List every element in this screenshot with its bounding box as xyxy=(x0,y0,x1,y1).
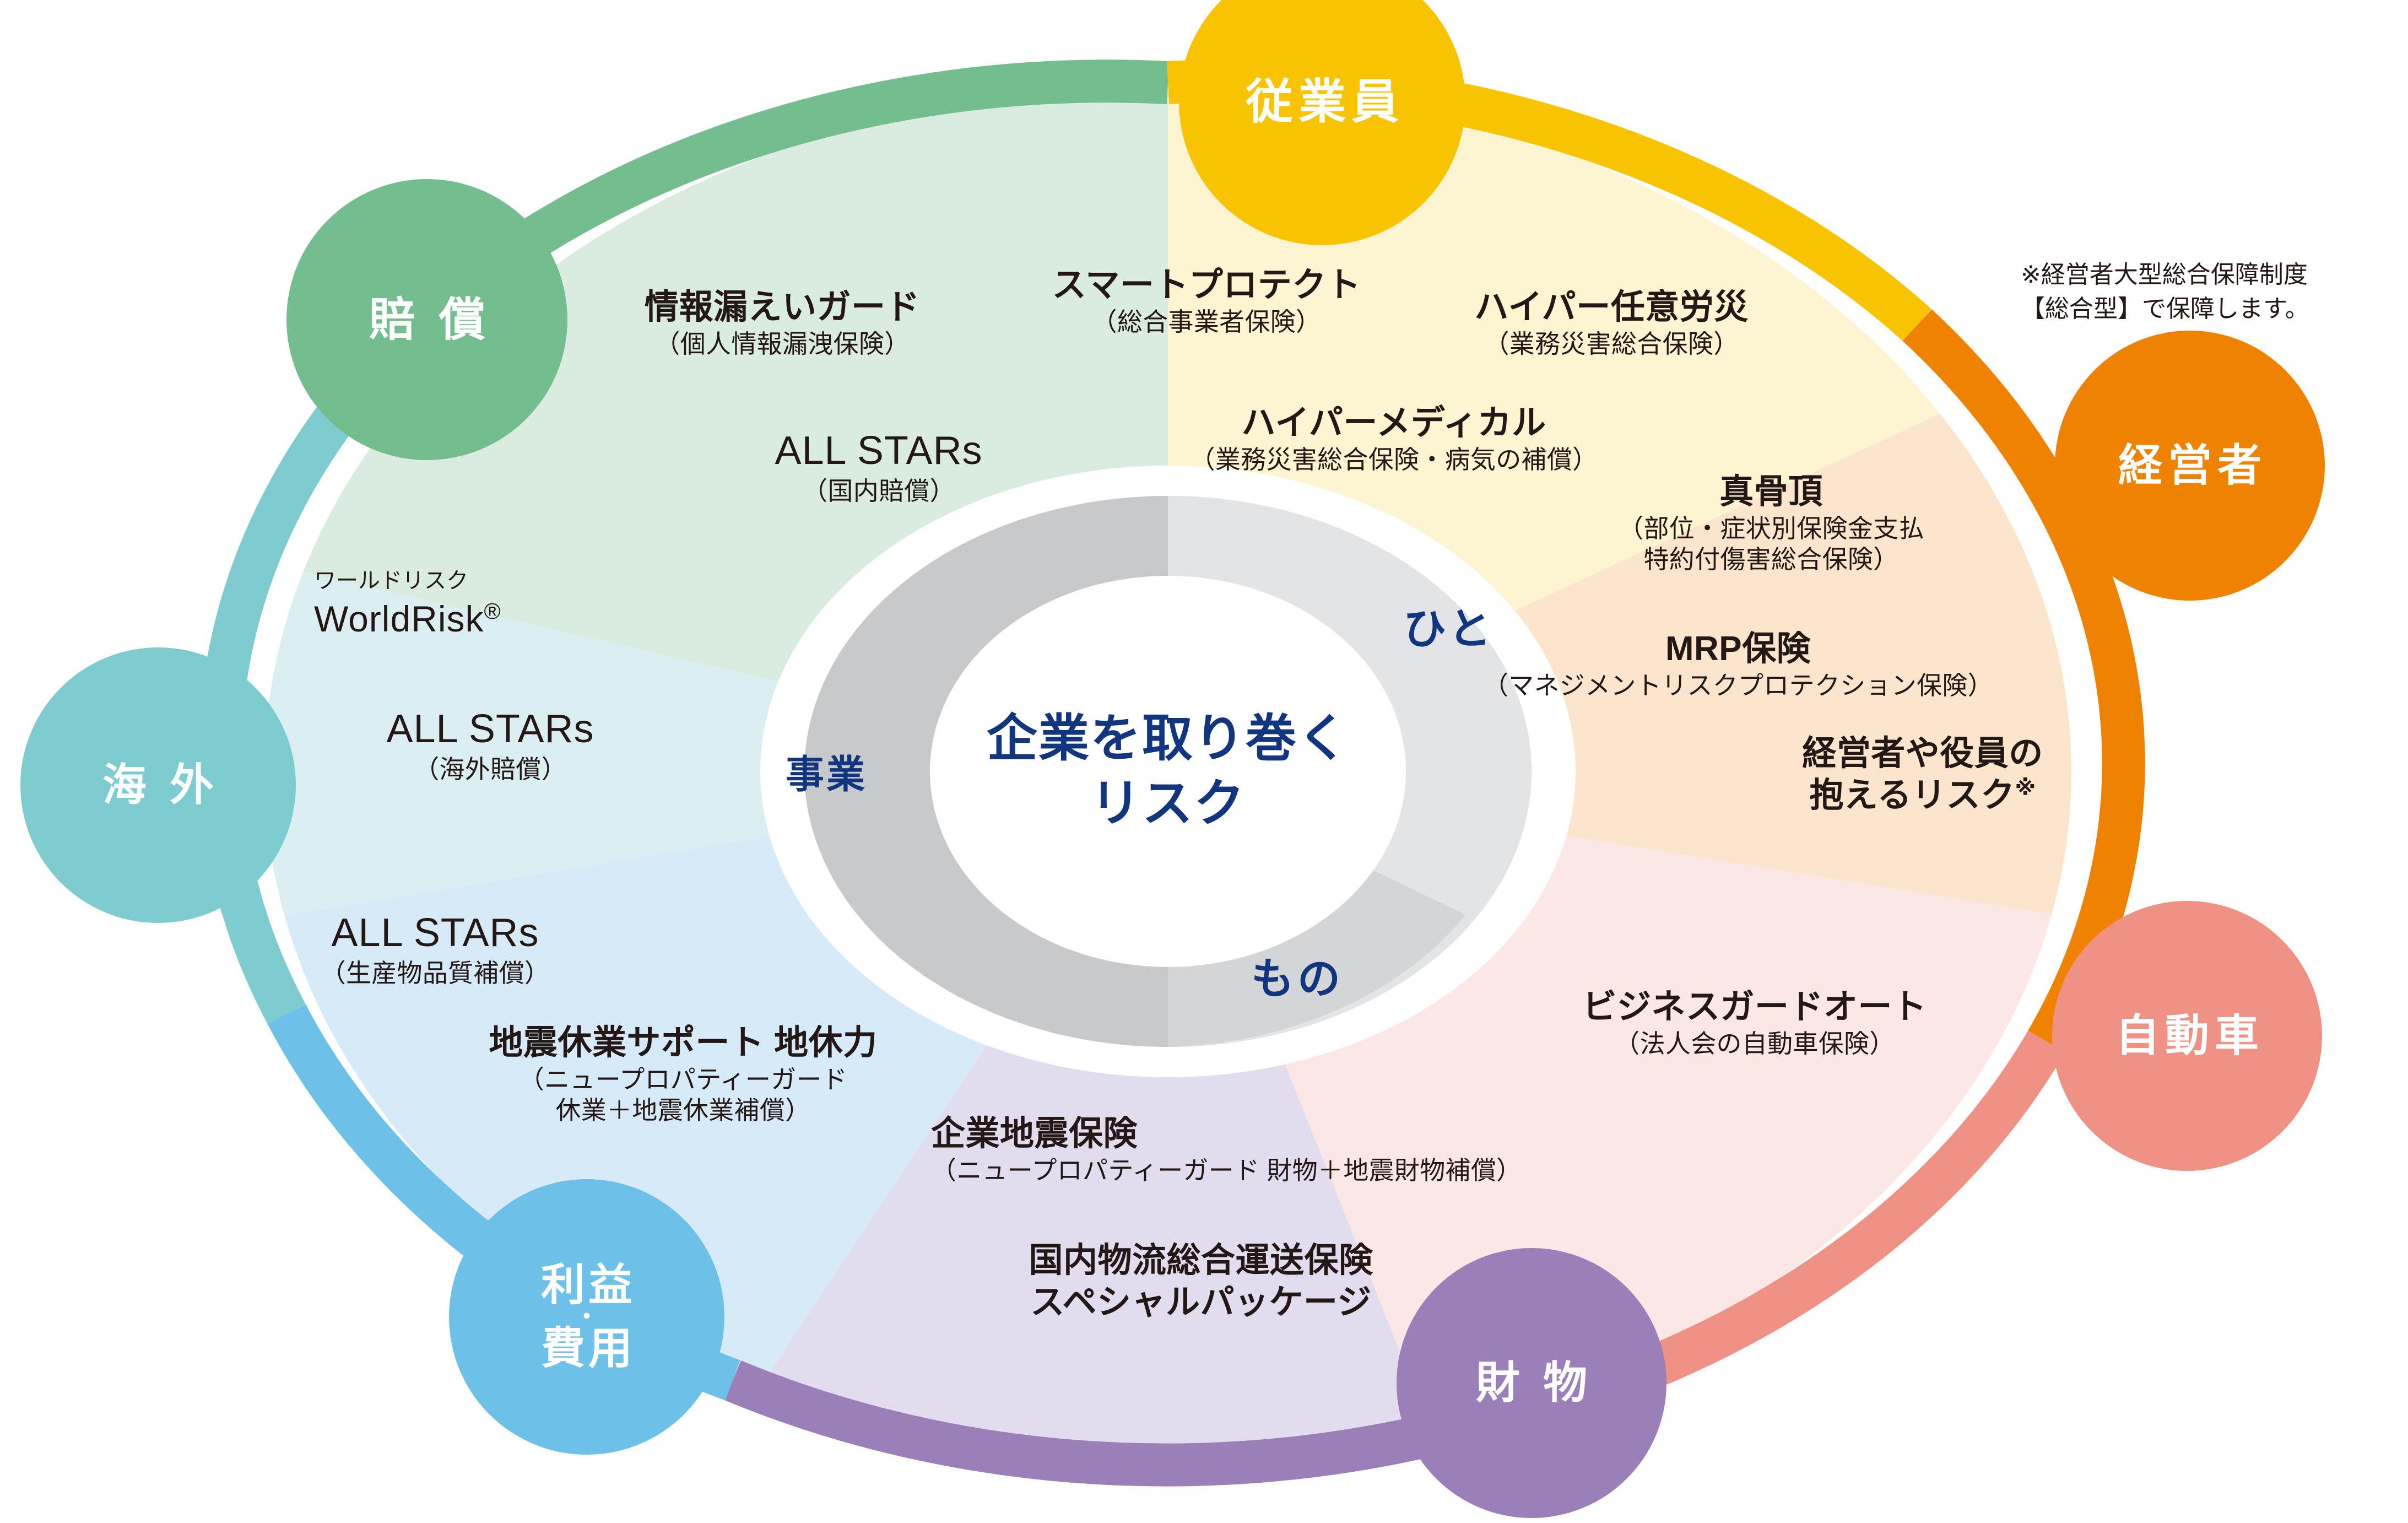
footnote-line1: ※経営者大型総合保障制度 xyxy=(2021,258,2309,292)
item-name: 経営者や役員の xyxy=(1802,733,2043,775)
footnote-line2: 【総合型】で保障します。 xyxy=(2021,292,2309,326)
item-name: 真骨頂 xyxy=(1618,471,1924,513)
item-shinkocho: 真骨頂 （部位・症状別保険金支払 特約付傷害総合保険） xyxy=(1618,471,1924,575)
item-jishin-kyugyo-support: 地震休業サポート 地休力 （ニュープロパティーガード 休業＋地震休業補償） xyxy=(489,1022,877,1126)
item-name: ALL STARs xyxy=(321,909,550,958)
item-name: MRP保険 xyxy=(1483,628,1993,670)
item-mrp-hoken: MRP保険 （マネジメントリスクプロテクション保険） xyxy=(1483,628,1993,701)
item-business-guard-auto: ビジネスガードオート （法人会の自動車保険） xyxy=(1582,986,1927,1059)
ring-label-hito: ひと xyxy=(1403,595,1495,656)
page-title: 企業を取り巻く リスク xyxy=(987,706,1349,836)
footnote: ※経営者大型総合保障制度 【総合型】で保障します。 xyxy=(2021,258,2309,327)
item-kana: ワールドリスク xyxy=(314,568,501,595)
item-all-stars-overseas: ALL STARs （海外賠償） xyxy=(386,705,594,785)
badge-label-property: 財 物 xyxy=(1470,1358,1593,1408)
item-name: 地震休業サポート 地休力 xyxy=(489,1022,877,1064)
badge-label-employee: 従業員 xyxy=(1240,75,1404,128)
item-name2: スペシャルパッケージ xyxy=(1029,1282,1373,1324)
item-sub2: 特約付傷害総合保険） xyxy=(1618,544,1924,575)
item-sub: （ニュープロパティーガード 財物＋地震財物補償） xyxy=(931,1155,1522,1186)
item-name2-text: 抱えるリスク xyxy=(1809,776,2015,814)
item-name: ALL STARs xyxy=(775,427,982,476)
item-sub: （法人会の自動車保険） xyxy=(1582,1028,1927,1059)
registered-trademark-icon: ® xyxy=(484,598,501,624)
item-sub: （生産物品質補償） xyxy=(321,958,550,989)
item-kigyo-jishin-hoken: 企業地震保険 （ニュープロパティーガード 財物＋地震財物補償） xyxy=(931,1113,1522,1186)
badge-label-profit: 利益 xyxy=(538,1263,636,1307)
badge-label-cost: 費用 xyxy=(538,1327,636,1371)
item-marker: ※ xyxy=(2015,776,2036,800)
page-title-line1: 企業を取り巻く xyxy=(987,706,1349,771)
item-sub2: 休業＋地震休業補償） xyxy=(489,1095,877,1126)
item-sub: （ニュープロパティーガード xyxy=(489,1064,877,1095)
item-name: 国内物流総合運送保険 xyxy=(1029,1240,1373,1282)
item-hyper-nin-i-rousai: ハイパー任意労災 （業務災害総合保険） xyxy=(1474,287,1749,359)
item-name: ハイパーメディカル xyxy=(1190,402,1598,444)
item-all-stars-domestic: ALL STARs （国内賠償） xyxy=(775,427,982,506)
item-sub: （業務災害総合保険） xyxy=(1474,328,1749,359)
item-sub: （マネジメントリスクプロテクション保険） xyxy=(1483,670,1993,701)
item-kokunai-butsuryu: 国内物流総合運送保険 スペシャルパッケージ xyxy=(1029,1240,1373,1323)
risk-wheel-diagram: 従業員 経営者 自動車 財 物 利益 ・ 費用 海 外 賠 償 ひと もの 事業… xyxy=(0,0,2408,1523)
item-sub: （総合事業者保険） xyxy=(1052,306,1361,337)
item-smart-protect: スマートプロテクト （総合事業者保険） xyxy=(1052,264,1361,337)
item-name: ビジネスガードオート xyxy=(1582,986,1927,1028)
item-sub: （部位・症状別保険金支払 xyxy=(1618,513,1924,544)
item-name: 情報漏えいガード xyxy=(645,287,920,328)
page-title-line2: リスク xyxy=(987,771,1349,836)
item-joho-rouei-guard: 情報漏えいガード （個人情報漏洩保険） xyxy=(645,287,920,359)
item-world-risk: ワールドリスク WorldRisk® xyxy=(314,568,501,641)
item-sub: （業務災害総合保険・病気の補償） xyxy=(1190,444,1598,475)
ring-label-jigyo: 事業 xyxy=(786,744,867,800)
item-name: WorldRisk® xyxy=(314,597,501,641)
item-sub: （国内賠償） xyxy=(775,476,982,506)
item-name-text: WorldRisk xyxy=(314,598,484,639)
item-name: ハイパー任意労災 xyxy=(1474,287,1749,328)
item-keieisha-risk: 経営者や役員の 抱えるリスク※ xyxy=(1802,733,2043,816)
item-name: スマートプロテクト xyxy=(1052,264,1361,306)
badge-label-liability: 賠 償 xyxy=(363,294,490,345)
item-name2: 抱えるリスク※ xyxy=(1802,775,2043,817)
item-name: 企業地震保険 xyxy=(931,1113,1522,1155)
item-name: ALL STARs xyxy=(386,705,594,754)
item-hyper-medical: ハイパーメディカル （業務災害総合保険・病気の補償） xyxy=(1190,402,1598,475)
item-sub: （個人情報漏洩保険） xyxy=(645,328,920,359)
badge-label-vehicle: 自動車 xyxy=(2110,1011,2264,1061)
item-sub: （海外賠償） xyxy=(386,754,594,785)
item-all-stars-product: ALL STARs （生産物品質補償） xyxy=(321,909,550,989)
badge-label-executive: 経営者 xyxy=(2113,441,2267,490)
badge-label-profit-cost: 利益 ・ 費用 xyxy=(538,1263,636,1370)
badge-label-overseas: 海 外 xyxy=(97,760,219,810)
ring-label-mono: もの xyxy=(1251,944,1344,1006)
